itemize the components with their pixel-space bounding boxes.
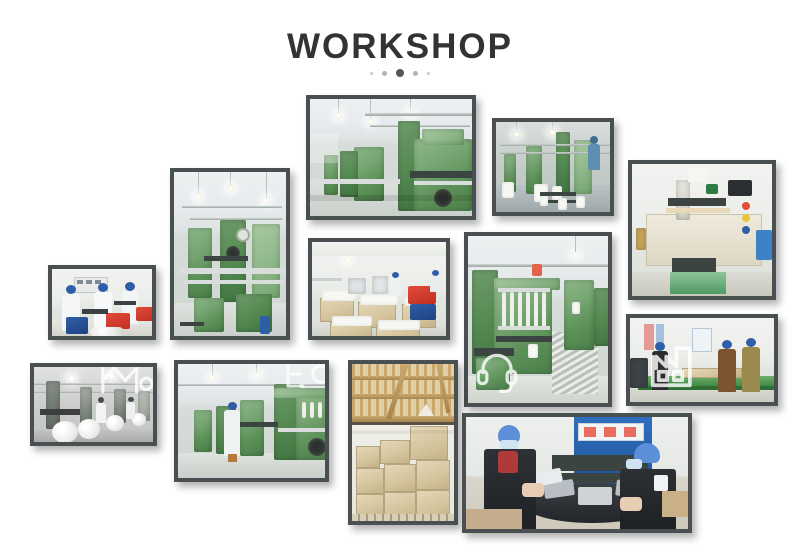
photo-tile-tall-hall[interactable]: [170, 168, 290, 340]
photo-tile-sealing-machine[interactable]: [462, 413, 692, 533]
page-title: WORKSHOP: [0, 26, 800, 68]
photo-tile-inspection-bench[interactable]: [48, 265, 156, 340]
dot-2: [382, 71, 387, 76]
dot-5: [427, 72, 430, 75]
photo-tile-warping[interactable]: [464, 232, 612, 407]
photo-tile-looms[interactable]: [306, 95, 476, 220]
photo-tile-packaging-machine[interactable]: [628, 160, 776, 300]
photo-tile-warehouse[interactable]: [348, 360, 458, 525]
photo-tile-green-table[interactable]: [626, 314, 778, 406]
dot-1: [370, 72, 373, 75]
decorative-dots: [0, 66, 800, 80]
dot-4: [413, 71, 418, 76]
photo-tile-knitting-row[interactable]: [492, 118, 614, 216]
photo-tile-fabric-rolls[interactable]: [30, 363, 157, 446]
photo-tile-packing-room[interactable]: [308, 238, 450, 340]
photo-tile-braiding-row[interactable]: [174, 360, 329, 482]
workshop-gallery-page: WORKSHOP: [0, 0, 800, 553]
dot-3: [396, 69, 404, 77]
